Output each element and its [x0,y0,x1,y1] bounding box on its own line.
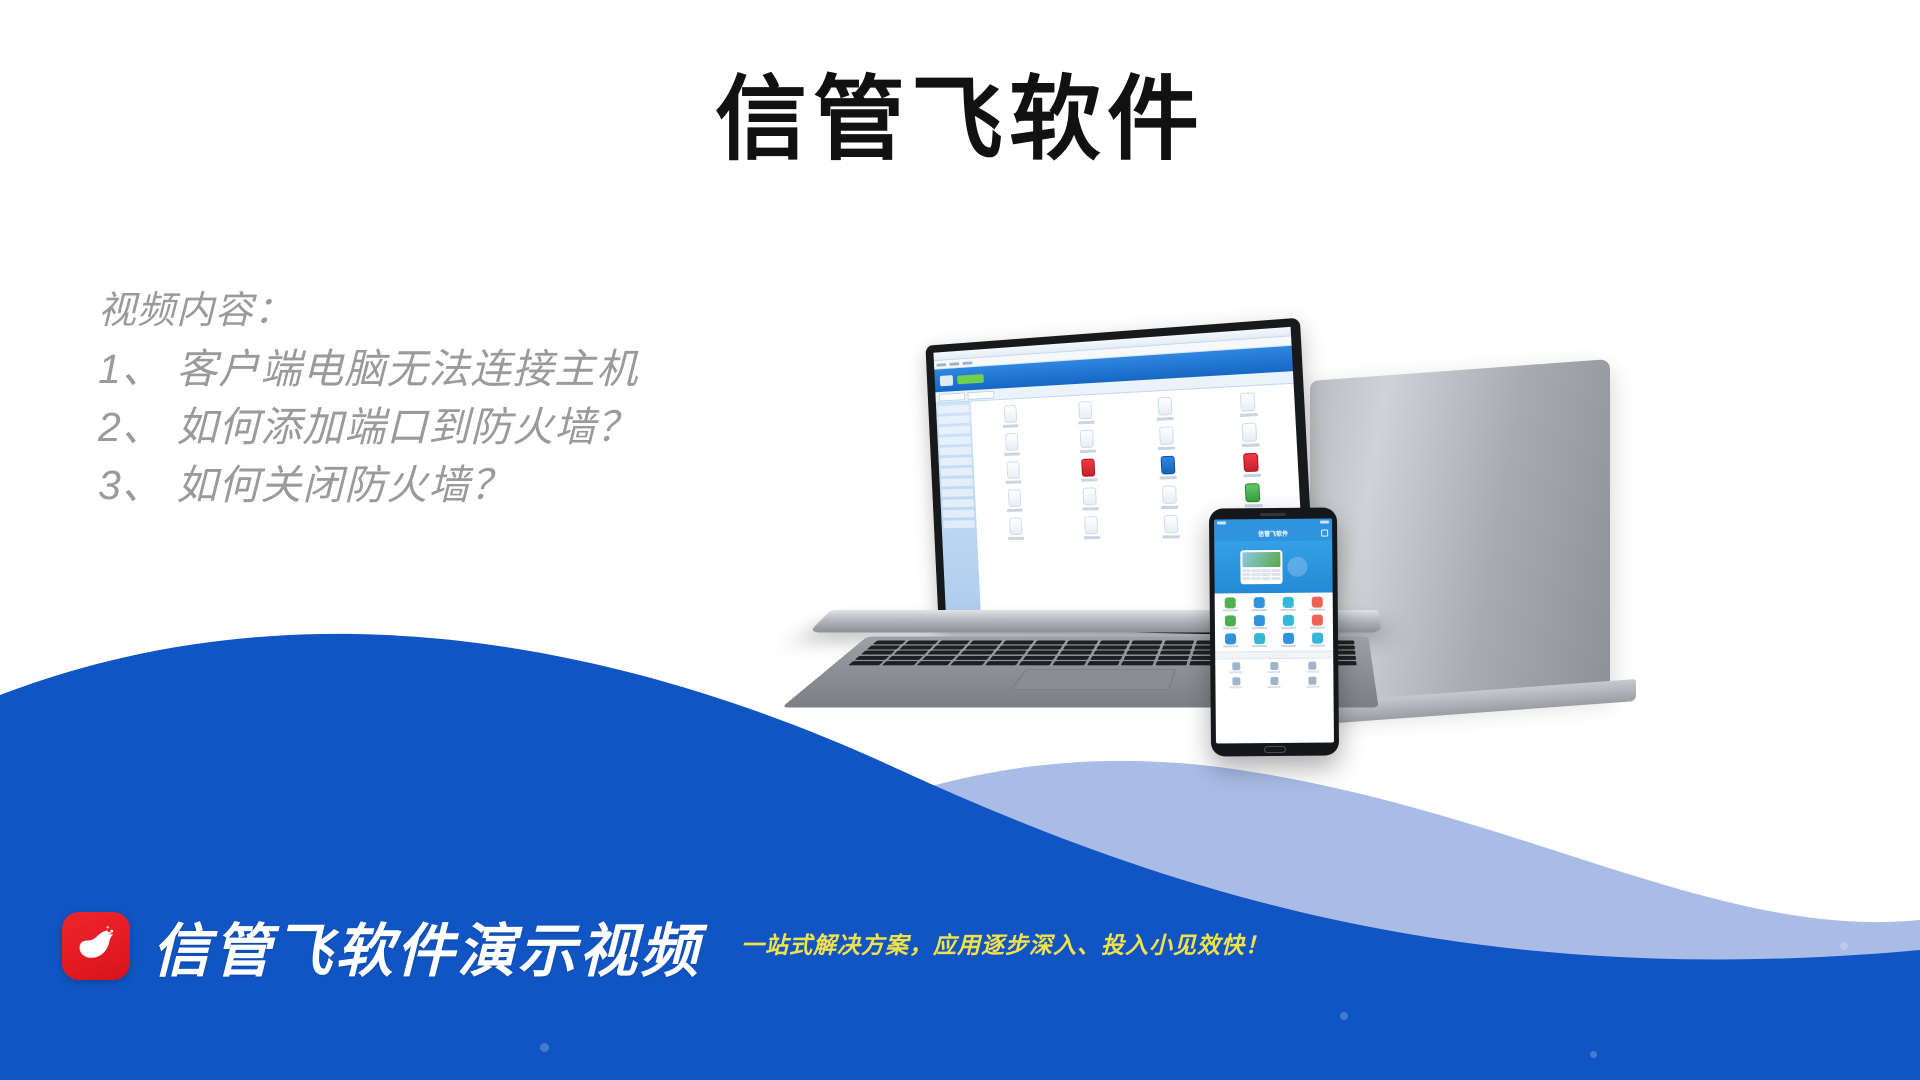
app-logo-icon [940,375,953,386]
device-group: 信管飞软件 [880,380,1920,940]
phone-app-icon[interactable] [1246,615,1274,629]
phone-app-grid[interactable] [1215,592,1334,651]
app-icon[interactable] [1049,428,1126,454]
brand-tagline: 一站式解决方案，应用逐步深入、投入小见效快！ [741,926,1269,966]
phone-secondary-icon[interactable] [1256,662,1293,673]
laptop-trackpad [1011,669,1176,690]
phone-hero-banner [1214,540,1332,593]
decorative-dot [1840,942,1848,950]
app-icon[interactable] [980,517,1053,540]
brand-name: 信管飞软件演示视频 [152,904,701,988]
phone-secondary-icon[interactable] [1256,677,1293,688]
app-icon[interactable] [1208,421,1293,448]
brand-row: 信管飞软件演示视频 一站式解决方案，应用逐步深入、投入小见效快！ [62,904,1269,988]
phone-app-icon[interactable] [1274,615,1302,629]
phone-app-icon[interactable] [1245,597,1273,611]
phone-app-icon[interactable] [1217,597,1245,611]
app-icon[interactable] [1128,455,1209,481]
app-icon[interactable] [1206,390,1291,418]
video-content-heading: 视频内容： [98,282,638,340]
app-icon[interactable] [974,403,1047,429]
slide-canvas: 信管飞软件 视频内容： 1、 客户端电脑无法连接主机 2、 如何添加端口到防火墙… [0,0,1920,1080]
phone-secondary-grid[interactable] [1215,658,1333,691]
app-icon[interactable] [1125,395,1205,422]
decorative-dot [540,1043,549,1052]
app-icon[interactable] [976,432,1049,457]
video-content-list: 视频内容： 1、 客户端电脑无法连接主机 2、 如何添加端口到防火墙？ 3、 如… [98,282,638,514]
phone-app-icon[interactable] [1303,633,1331,647]
phone-app-icon[interactable] [1303,615,1331,629]
app-icon[interactable] [1052,487,1129,511]
phone-secondary-icon[interactable] [1217,662,1254,673]
video-content-item-2: 2、 如何添加端口到防火墙？ [98,398,638,456]
phone-app-icon[interactable] [1303,597,1331,611]
video-content-item-3: 3、 如何关闭防火墙？ [98,456,638,514]
page-title: 信管飞软件 [0,72,1920,169]
phone-navbar: 信管飞软件 [1214,525,1332,541]
decorative-dot [1590,1051,1597,1058]
app-icon[interactable] [1211,482,1296,508]
phone-home-button[interactable] [1264,746,1286,753]
phone-app-icon[interactable] [1246,633,1274,647]
app-icon[interactable] [1048,399,1124,426]
phone-secondary-icon[interactable] [1217,677,1254,688]
app-icon[interactable] [1051,457,1128,482]
phone-app-icon[interactable] [1217,615,1245,629]
hero-device-image [1240,550,1282,584]
dove-logo-icon [62,912,130,980]
smartphone-foreground: 信管飞软件 [1209,507,1339,756]
phone-app-icon[interactable] [1274,597,1302,611]
hero-badge-icon [1287,557,1307,577]
app-icon[interactable] [1209,452,1294,479]
decorative-dot [1340,1012,1348,1020]
phone-app-icon[interactable] [1217,633,1245,647]
app-icon[interactable] [1131,514,1212,538]
phone-secondary-icon[interactable] [1294,677,1331,688]
bottom-banner: 信管飞软件演示视频 一站式解决方案，应用逐步深入、投入小见效快！ [0,900,1920,1080]
app-icon[interactable] [1127,425,1207,452]
phone-secondary-icon[interactable] [1294,662,1331,673]
phone-speaker [1260,513,1286,516]
app-highlight-badge [957,374,984,384]
phone-app-title: 信管飞软件 [1258,529,1288,538]
app-icon[interactable] [1130,484,1211,509]
phone-screen: 信管飞软件 [1214,518,1334,743]
app-icon[interactable] [978,489,1051,513]
phone-app-icon[interactable] [1275,633,1303,647]
app-icon[interactable] [1054,516,1131,540]
hamburger-menu-icon[interactable] [1321,530,1328,537]
video-content-item-1: 1、 客户端电脑无法连接主机 [98,340,638,398]
app-icon[interactable] [977,460,1050,485]
